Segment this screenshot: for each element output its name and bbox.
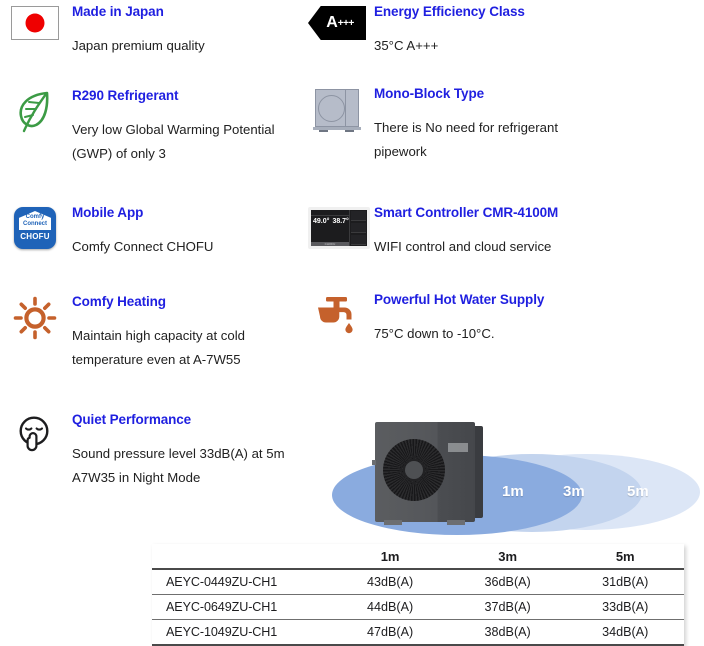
cell-1m: 44dB(A)	[331, 595, 449, 620]
feature-mobile-app: Comfy Connect CHOFU Mobile App Comfy Con…	[6, 205, 213, 259]
feature-title: Powerful Hot Water Supply	[374, 292, 544, 308]
sound-pressure-table: 1m 3m 5m AEYC-0449ZU-CH1 43dB(A) 36dB(A)…	[152, 544, 684, 646]
feature-desc-line-1: Comfy Connect CHOFU	[72, 239, 213, 254]
column-header-1m: 1m	[331, 544, 449, 569]
table-body: AEYC-0449ZU-CH1 43dB(A) 36dB(A) 31dB(A) …	[152, 569, 684, 645]
feature-description: Sound pressure level 33dB(A) at 5m A7W35…	[72, 442, 285, 490]
sound-ring-label-3m: 3m	[563, 483, 585, 500]
controller-side-button-2	[351, 223, 366, 233]
feature-description: WIFI control and cloud service	[374, 235, 558, 259]
feature-comfy-heating: Comfy Heating Maintain high capacity at …	[6, 294, 245, 372]
feature-desc-line-1: Maintain high capacity at cold	[72, 328, 245, 343]
energy-class-letter: A	[326, 14, 338, 32]
feature-title: Mobile App	[72, 205, 213, 221]
feature-smart-controller: 49.0° 38.7° CHOFU Smart Controller CMR-4…	[304, 205, 558, 259]
feature-description: Very low Global Warming Potential (GWP) …	[72, 118, 275, 166]
app-house-label: Comfy Connect	[19, 214, 51, 228]
feature-description: Comfy Connect CHOFU	[72, 235, 213, 259]
unit-foot-right	[447, 520, 465, 525]
shush-face-icon-svg	[15, 414, 55, 458]
cell-1m: 43dB(A)	[331, 569, 449, 595]
feature-title: Mono-Block Type	[374, 86, 558, 102]
app-label-line-2: Connect	[19, 221, 51, 228]
feature-text: Smart Controller CMR-4100M WIFI control …	[374, 205, 558, 259]
app-label-line-1: Comfy	[19, 214, 51, 221]
feature-text: Mobile App Comfy Connect CHOFU	[64, 205, 213, 259]
feature-description: 75°C down to -10°C.	[374, 322, 544, 346]
controller-side-button-3	[351, 235, 366, 245]
feature-desc-line-1: Very low Global Warming Potential	[72, 122, 275, 137]
unit-foot-left	[384, 520, 402, 525]
leaf-icon	[6, 88, 64, 134]
unit-fan-hub	[405, 461, 423, 479]
feature-title: Quiet Performance	[72, 412, 285, 428]
feature-text: Powerful Hot Water Supply 75°C down to -…	[366, 292, 544, 346]
cell-5m: 34dB(A)	[566, 620, 684, 646]
feature-desc-line-1: There is No need for refrigerant	[374, 120, 558, 135]
feature-description: Japan premium quality	[72, 34, 205, 58]
feature-r290-refrigerant: R290 Refrigerant Very low Global Warming…	[6, 88, 275, 166]
feature-desc-line-2: temperature even at A-7W55	[72, 348, 245, 372]
feature-text: R290 Refrigerant Very low Global Warming…	[64, 88, 275, 166]
feature-title: Comfy Heating	[72, 294, 245, 310]
feature-desc-line-1: WIFI control and cloud service	[374, 239, 551, 254]
controller-brand: CHOFU	[311, 242, 349, 246]
cell-3m: 36dB(A)	[449, 569, 567, 595]
energy-class-text: A+++	[308, 6, 366, 40]
heat-pump-unit-icon	[308, 86, 366, 132]
sun-icon	[6, 294, 64, 340]
table-row: AEYC-1049ZU-CH1 47dB(A) 38dB(A) 34dB(A)	[152, 620, 684, 646]
energy-class-plus: +++	[338, 18, 354, 29]
feature-text: Energy Efficiency Class 35°C A+++	[366, 4, 525, 58]
feature-made-in-japan: Made in Japan Japan premium quality	[6, 4, 205, 58]
feature-title: Smart Controller CMR-4100M	[374, 205, 558, 221]
cell-3m: 37dB(A)	[449, 595, 567, 620]
table-header: 1m 3m 5m	[152, 544, 684, 569]
cell-model: AEYC-0649ZU-CH1	[152, 595, 331, 620]
feature-text: Made in Japan Japan premium quality	[64, 4, 205, 58]
unit-fan-circle	[318, 95, 345, 122]
table-row: AEYC-0449ZU-CH1 43dB(A) 36dB(A) 31dB(A)	[152, 569, 684, 595]
smart-controller-icon: 49.0° 38.7° CHOFU	[304, 205, 374, 249]
cell-model: AEYC-0449ZU-CH1	[152, 569, 331, 595]
feature-desc-line-1: Sound pressure level 33dB(A) at 5m	[72, 446, 285, 461]
unit-panel-divider	[345, 89, 346, 127]
unit-leg-right	[345, 130, 354, 132]
controller-side-button-1	[351, 211, 366, 221]
feature-desc-line-1: Japan premium quality	[72, 38, 205, 53]
table-header-row: 1m 3m 5m	[152, 544, 684, 569]
cell-model: AEYC-1049ZU-CH1	[152, 620, 331, 646]
cell-3m: 38dB(A)	[449, 620, 567, 646]
cell-1m: 47dB(A)	[331, 620, 449, 646]
feature-energy-efficiency-class: A+++ Energy Efficiency Class 35°C A+++	[308, 4, 525, 58]
sound-ring-label-5m: 5m	[627, 483, 649, 500]
sun-icon-svg	[13, 296, 57, 340]
feature-quiet-performance: Quiet Performance Sound pressure level 3…	[6, 412, 285, 490]
energy-label-a-triple-plus-icon: A+++	[308, 4, 366, 40]
unit-brand-logo	[448, 443, 468, 452]
feature-description: Maintain high capacity at cold temperatu…	[72, 324, 245, 372]
leaf-icon-svg	[15, 90, 55, 134]
column-header-model	[152, 544, 331, 569]
feature-mono-block-type: Mono-Block Type There is No need for ref…	[308, 86, 558, 164]
faucet-icon	[308, 292, 366, 336]
sound-ring-label-1m: 1m	[502, 483, 524, 500]
feature-text: Comfy Heating Maintain high capacity at …	[64, 294, 245, 372]
cell-5m: 33dB(A)	[566, 595, 684, 620]
faucet-icon-svg	[314, 294, 360, 336]
controller-side-buttons	[349, 210, 367, 246]
comfy-connect-app-icon: Comfy Connect CHOFU	[6, 205, 64, 249]
feature-text: Mono-Block Type There is No need for ref…	[366, 86, 558, 164]
shush-face-icon	[6, 412, 64, 458]
column-header-3m: 3m	[449, 544, 567, 569]
feature-powerful-hot-water-supply: Powerful Hot Water Supply 75°C down to -…	[308, 292, 544, 346]
cell-5m: 31dB(A)	[566, 569, 684, 595]
table-row: AEYC-0649ZU-CH1 44dB(A) 37dB(A) 33dB(A)	[152, 595, 684, 620]
sound-range-illustration: 1m 3m 5m	[322, 406, 704, 548]
unit-leg-left	[319, 130, 328, 132]
feature-desc-line-1: 75°C down to -10°C.	[374, 326, 495, 341]
feature-description: 35°C A+++	[374, 34, 525, 58]
controller-temp-2: 38.7°	[332, 218, 348, 225]
feature-text: Quiet Performance Sound pressure level 3…	[64, 412, 285, 490]
feature-title: R290 Refrigerant	[72, 88, 275, 104]
feature-title: Energy Efficiency Class	[374, 4, 525, 20]
unit-left-nub	[372, 460, 376, 465]
feature-desc-line-2: (GWP) of only 3	[72, 142, 275, 166]
column-header-5m: 5m	[566, 544, 684, 569]
feature-description: There is No need for refrigerant pipewor…	[374, 116, 558, 164]
controller-temp-1: 49.0°	[313, 218, 329, 225]
heat-pump-unit-illustration	[375, 422, 485, 526]
feature-desc-line-1: 35°C A+++	[374, 38, 438, 53]
unit-right-side	[475, 426, 483, 518]
feature-desc-line-2: A7W35 in Night Mode	[72, 466, 285, 490]
app-brand-label: CHOFU	[14, 232, 56, 241]
feature-desc-line-2: pipework	[374, 140, 558, 164]
japan-flag-icon	[6, 4, 64, 40]
controller-main-panel: 49.0° 38.7° CHOFU	[311, 210, 349, 246]
feature-title: Made in Japan	[72, 4, 205, 20]
controller-temperatures: 49.0° 38.7°	[311, 216, 349, 225]
